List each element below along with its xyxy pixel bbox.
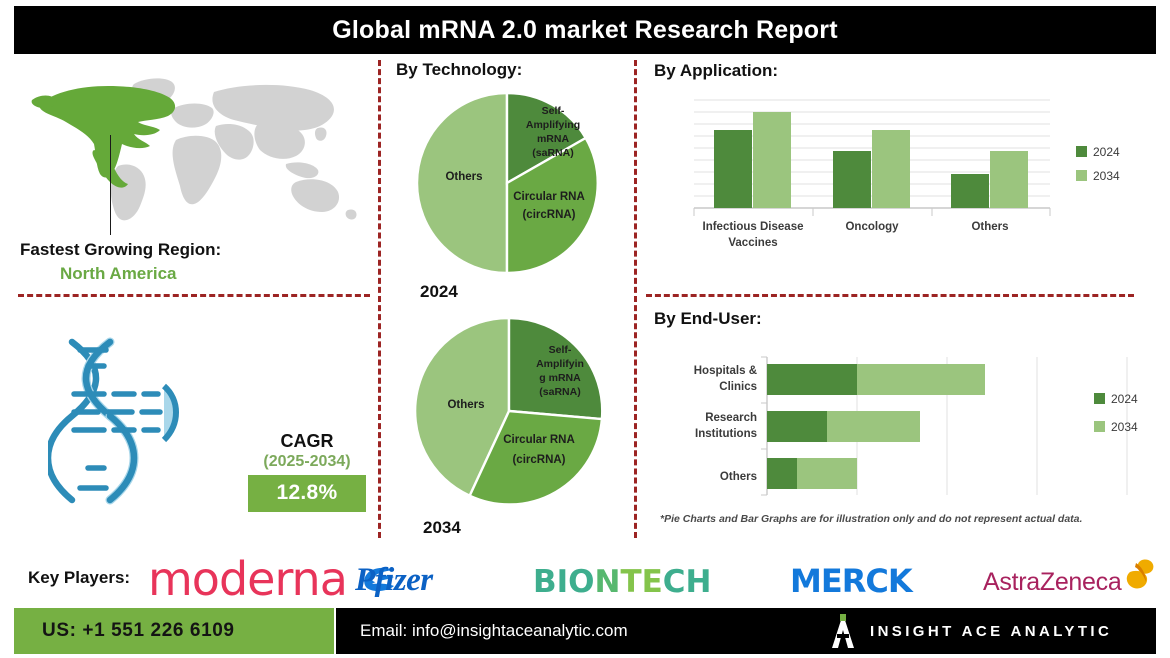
fastest-growing-region-label: Fastest Growing Region: [20,240,221,260]
cagr-block: CAGR (2025-2034) 12.8% [248,430,366,512]
category-label: Infectious Disease [703,221,804,233]
category-label: Institutions [695,428,757,440]
pie-slice-label: Self- [542,105,565,117]
pie-slice-label: (circRNA) [522,209,575,221]
dna-helix-icon [48,328,218,513]
category-label: Clinics [719,381,757,393]
astrazeneca-mark-icon [1122,558,1156,594]
legend-label-2034: 2034 [1111,420,1138,434]
pie-year-2034: 2034 [423,518,461,538]
insight-ace-a-icon [830,614,856,648]
pie-slice-label: Amplifyin [536,358,584,370]
brand-lockup: INSIGHT ACE ANALYTIC [830,614,1112,648]
header-bar: Global mRNA 2.0 market Research Report [14,6,1156,54]
bar-2034 [857,364,985,395]
divider-horizontal-left [18,294,370,297]
pie-slice-label: (saRNA) [539,386,580,398]
biontech-part: BIO [533,564,595,600]
legend-swatch-2034 [1094,421,1105,432]
key-players-row: Key Players: moderna Pfizer BIONTECH MER… [0,556,1170,608]
category-label: Others [720,471,757,483]
legend-swatch-2024 [1076,146,1087,157]
contact-email-text: Email: info@insightaceanalytic.com [336,621,628,641]
section-title-application: By Application: [654,61,778,81]
contact-phone-text: US: +1 551 226 6109 [14,620,235,642]
legend-label-2024: 2024 [1111,392,1138,406]
biontech-part: TE [620,564,662,600]
bar-2034 [797,458,857,489]
divider-horizontal-right [646,294,1134,297]
map-leader-line [110,135,111,235]
category-label: Others [971,221,1008,233]
bar-2024 [833,151,871,208]
contact-phone-bar: US: +1 551 226 6109 [14,608,334,654]
cagr-value-badge: 12.8% [248,475,366,512]
bar-2034 [990,151,1028,208]
bar-2024 [767,364,857,395]
pie-chart-technology-2034: Self- Amplifyin g mRNA (saRNA) Circular … [398,315,624,511]
pie-slice-label: (circRNA) [512,454,565,466]
bar-2034 [827,411,920,442]
fastest-growing-region-value: North America [60,264,177,284]
legend-swatch-2034 [1076,170,1087,181]
pie-chart-technology-2024: Self- Amplifying mRNA (saRNA) Circular R… [396,88,618,278]
bar-2034 [872,130,910,208]
pie-slice-label: Others [445,171,482,183]
category-label: Research [705,412,757,424]
category-label: Oncology [845,221,899,233]
pie-slice-label: Circular RNA [513,191,585,203]
section-title-enduser: By End-User: [654,309,762,329]
pie-slice-label: (saRNA) [532,147,573,159]
bar-2024 [767,411,827,442]
legend-label-2034: 2034 [1093,169,1120,183]
divider-vertical-right [634,60,637,538]
contact-email-bar: Email: info@insightaceanalytic.com INSIG… [336,608,1156,654]
pie-slice-label: mRNA [537,133,570,145]
pie-slice-label: Amplifying [526,119,580,131]
category-label: Hospitals & [694,365,757,377]
legend-swatch-2024 [1094,393,1105,404]
bar-2024 [767,458,797,489]
application-bar-chart: Infectious Disease Vaccines Oncology Oth… [650,92,1150,252]
cagr-title: CAGR [248,430,366,452]
pie-slice-label: Others [447,399,484,411]
biontech-part: N [595,564,621,600]
pie-slice-label: Circular RNA [503,434,575,446]
world-map-icon [18,70,358,230]
chart-footnote: *Pie Charts and Bar Graphs are for illus… [660,513,1082,525]
category-label: Vaccines [728,237,777,249]
divider-vertical-left [378,60,381,538]
key-players-label: Key Players: [28,568,130,588]
legend-label-2024: 2024 [1093,145,1120,159]
pfizer-logo: Pfizer [355,562,433,599]
bar-2024 [714,130,752,208]
section-title-technology: By Technology: [396,60,522,80]
infographic-root: Global mRNA 2.0 market Research Report [0,0,1170,658]
page-title: Global mRNA 2.0 market Research Report [332,16,837,45]
cagr-years: (2025-2034) [248,452,366,472]
bar-2024 [951,174,989,208]
brand-name: INSIGHT ACE ANALYTIC [870,623,1112,640]
moderna-logo: moderna [148,552,347,606]
astrazeneca-logo: AstraZeneca [983,568,1121,597]
pie-slice-label: g mRNA [539,372,581,384]
biontech-part: CH [663,564,712,600]
bar-2034 [753,112,791,208]
enduser-bar-chart: Hospitals & Clinics Research Institution… [650,345,1150,510]
pie-year-2024: 2024 [420,282,458,302]
biontech-logo: BIONTECH [533,564,712,600]
merck-logo: MERCK [790,562,912,600]
pie-slice-label: Self- [549,344,572,356]
